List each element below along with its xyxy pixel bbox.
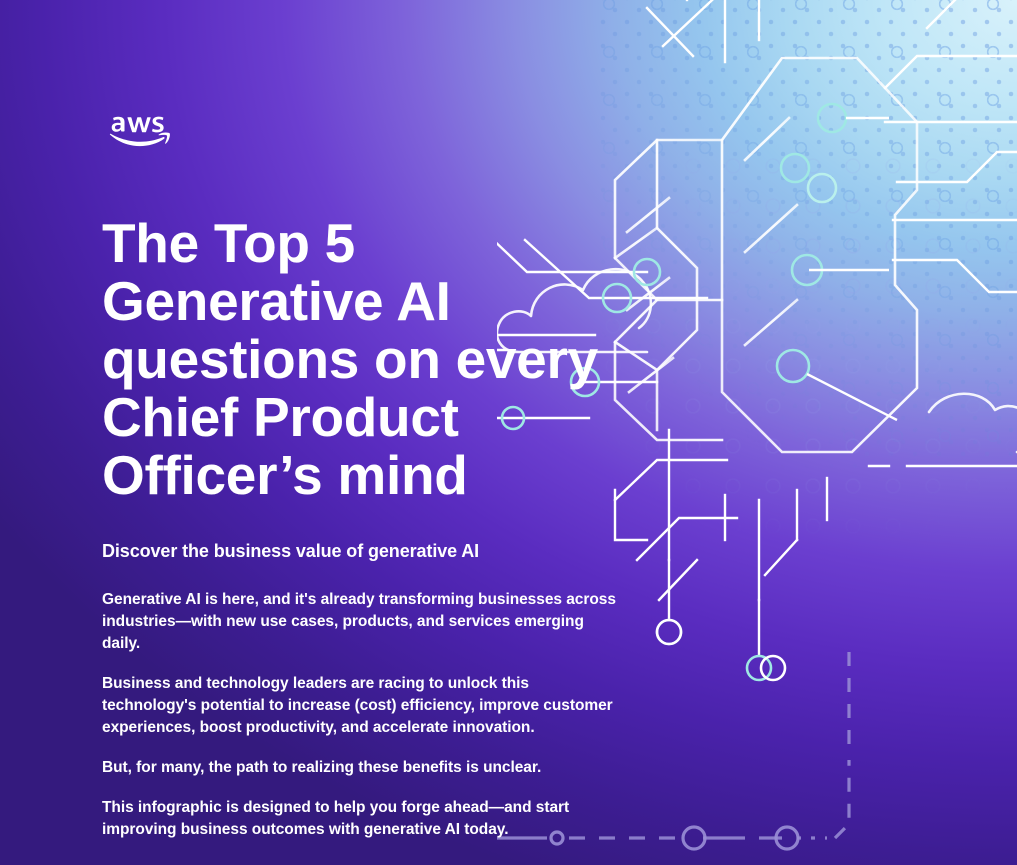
headline-line-2: Generative AI: [102, 272, 622, 330]
headline-line-4: Chief Product: [102, 388, 622, 446]
poster-canvas: The Top 5 Generative AI questions on eve…: [0, 0, 1017, 865]
dotted-grid-pattern: [597, 0, 1017, 472]
circle-grid-pattern: [597, 0, 1017, 472]
body-paragraph-2: Business and technology leaders are raci…: [102, 673, 622, 739]
aws-wordmark: [112, 117, 164, 133]
hex-texture-pattern: [597, 150, 1017, 580]
headline-line-3: questions on every: [102, 330, 622, 388]
brain-hexagon-outline: [615, 58, 917, 452]
body-copy: Generative AI is here, and it's already …: [102, 589, 622, 841]
node-connectors: [807, 118, 897, 420]
circuit-traces-bottom: [669, 478, 827, 655]
headline-line-1: The Top 5: [102, 214, 622, 272]
body-paragraph-3: But, for many, the path to realizing the…: [102, 757, 622, 779]
page-title: The Top 5 Generative AI questions on eve…: [102, 214, 622, 504]
circuit-traces-right: [869, 0, 1017, 466]
cloud-outline-right: [929, 394, 1017, 452]
aws-smile-icon: [110, 133, 170, 147]
body-paragraph-4: This infographic is designed to help you…: [102, 797, 622, 841]
body-paragraph-1: Generative AI is here, and it's already …: [102, 589, 622, 655]
aws-logo[interactable]: [102, 100, 180, 152]
circuit-traces-top: [647, 0, 759, 62]
node-circles-white: [657, 620, 785, 680]
subheading: Discover the business value of generativ…: [102, 539, 479, 564]
headline-line-5: Officer’s mind: [102, 446, 622, 504]
